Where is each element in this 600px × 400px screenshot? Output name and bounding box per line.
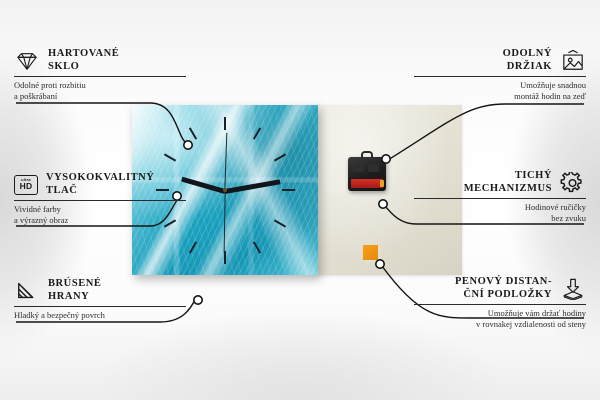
hd-badge-main: HD	[20, 182, 33, 191]
connector-dot-edges	[194, 296, 202, 304]
mechanism-hanger	[361, 151, 373, 158]
feature-head: TICHÝ MECHANIZMUS	[414, 170, 586, 197]
battery	[351, 179, 383, 188]
feature-title: PENOVÝ DISTAN- ČNÍ PODLOŽKY	[455, 276, 552, 301]
feature-head: PENOVÝ DISTAN- ČNÍ PODLOŽKY	[414, 276, 586, 303]
feature-sub-line1: Odolné proti rozbitiu	[14, 80, 186, 91]
hour-tick	[224, 251, 226, 264]
product-infographic: HARTOVANÉ SKLO Odolné proti rozbitiu a p…	[0, 0, 600, 400]
mechanism-slot-right	[368, 164, 379, 172]
gear-icon	[560, 172, 586, 194]
feature-divider	[14, 306, 186, 307]
feature-sub-line1: Umožňuje vám držať hodiny	[414, 308, 586, 319]
feature-head: BRÚSENÉ HRANY	[14, 278, 186, 305]
feature-divider	[414, 198, 586, 199]
feature-title: TICHÝ MECHANIZMUS	[464, 170, 552, 195]
feature-title: VYSOKOKVALITNÝ TLAČ	[46, 172, 154, 197]
feature-divider	[414, 304, 586, 305]
feature-head: ODOLNÝ DRŽIAK	[414, 48, 586, 75]
hour-tick	[224, 117, 226, 130]
foam-pad-arrow-icon	[560, 278, 586, 300]
feature-foam-spacers[interactable]: PENOVÝ DISTAN- ČNÍ PODLOŽKY Umožňuje vám…	[414, 276, 586, 329]
feature-sub-line2: bez zvuku	[414, 213, 586, 224]
brushed-edges-icon	[14, 280, 40, 302]
mechanism-slot-left	[353, 164, 364, 172]
ultra-hd-badge-icon: ultra HD	[14, 175, 38, 195]
feature-sub-line1: Umožňuje snadnou	[414, 80, 586, 91]
feature-title: ODOLNÝ DRŽIAK	[503, 48, 552, 73]
feature-title: BRÚSENÉ HRANY	[48, 278, 101, 303]
feature-divider	[14, 200, 186, 201]
feature-head: HARTOVANÉ SKLO	[14, 48, 186, 75]
clock-mechanism	[348, 157, 386, 191]
feature-head: ultra HD VYSOKOKVALITNÝ TLAČ	[14, 172, 186, 199]
feature-sub-line2: a výrazný obraz	[14, 215, 186, 226]
feature-divider	[414, 76, 586, 77]
feature-sub-line1: Vividné farby	[14, 204, 186, 215]
feature-tempered-glass[interactable]: HARTOVANÉ SKLO Odolné proti rozbitiu a p…	[14, 48, 186, 101]
feature-sub-line1: Hladký a bezpečný povrch	[14, 310, 186, 321]
feature-divider	[14, 76, 186, 77]
feature-polished-edges[interactable]: BRÚSENÉ HRANY Hladký a bezpečný povrch	[14, 278, 186, 321]
feature-durable-holder[interactable]: ODOLNÝ DRŽIAK Umožňuje snadnou montáž ho…	[414, 48, 586, 101]
feature-sub-line2: v rovnakej vzdialenosti od steny	[414, 319, 586, 330]
feature-sub-line1: Hodinové ručičky	[414, 202, 586, 213]
foam-spacer-pad	[363, 245, 378, 260]
picture-hanger-icon	[560, 50, 586, 72]
diamond-icon	[14, 50, 40, 72]
hour-tick	[282, 189, 295, 191]
clock-center-pin	[223, 188, 227, 192]
feature-sub-line2: montáž hodin na zeď	[414, 91, 586, 102]
feature-sub-line2: a poškrábaní	[14, 91, 186, 102]
feature-high-quality-print[interactable]: ultra HD VYSOKOKVALITNÝ TLAČ Vividné far…	[14, 172, 186, 225]
feature-title: HARTOVANÉ SKLO	[48, 48, 119, 73]
feature-silent-mechanism[interactable]: TICHÝ MECHANIZMUS Hodinové ručičky bez z…	[414, 170, 586, 223]
